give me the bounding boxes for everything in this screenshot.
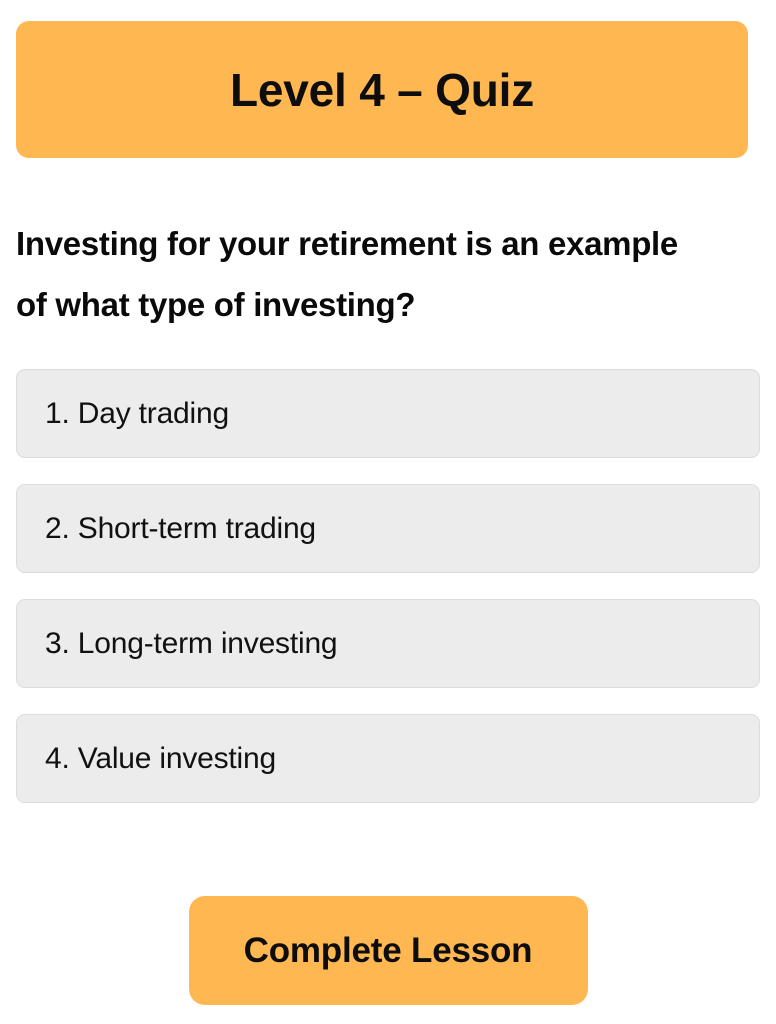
quiz-option-label: 3. Long-term investing — [45, 629, 337, 659]
quiz-option-label: 2. Short-term trading — [45, 514, 316, 544]
quiz-option-3[interactable]: 3. Long-term investing — [16, 599, 760, 688]
quiz-option-label: 4. Value investing — [45, 744, 276, 774]
lesson-header-banner: Level 4 – Quiz — [16, 21, 748, 158]
quiz-option-label: 1. Day trading — [45, 399, 229, 429]
quiz-footer: Complete Lesson — [0, 896, 776, 1005]
page-title: Level 4 – Quiz — [230, 67, 534, 113]
quiz-screen: Level 4 – Quiz Investing for your retire… — [0, 0, 776, 1024]
quiz-options-list: 1. Day trading 2. Short-term trading 3. … — [16, 369, 760, 803]
quiz-option-2[interactable]: 2. Short-term trading — [16, 484, 760, 573]
complete-lesson-button-label: Complete Lesson — [244, 933, 533, 968]
quiz-option-4[interactable]: 4. Value investing — [16, 714, 760, 803]
quiz-question-text: Investing for your retirement is an exam… — [16, 213, 716, 335]
quiz-option-1[interactable]: 1. Day trading — [16, 369, 760, 458]
complete-lesson-button[interactable]: Complete Lesson — [189, 896, 588, 1005]
